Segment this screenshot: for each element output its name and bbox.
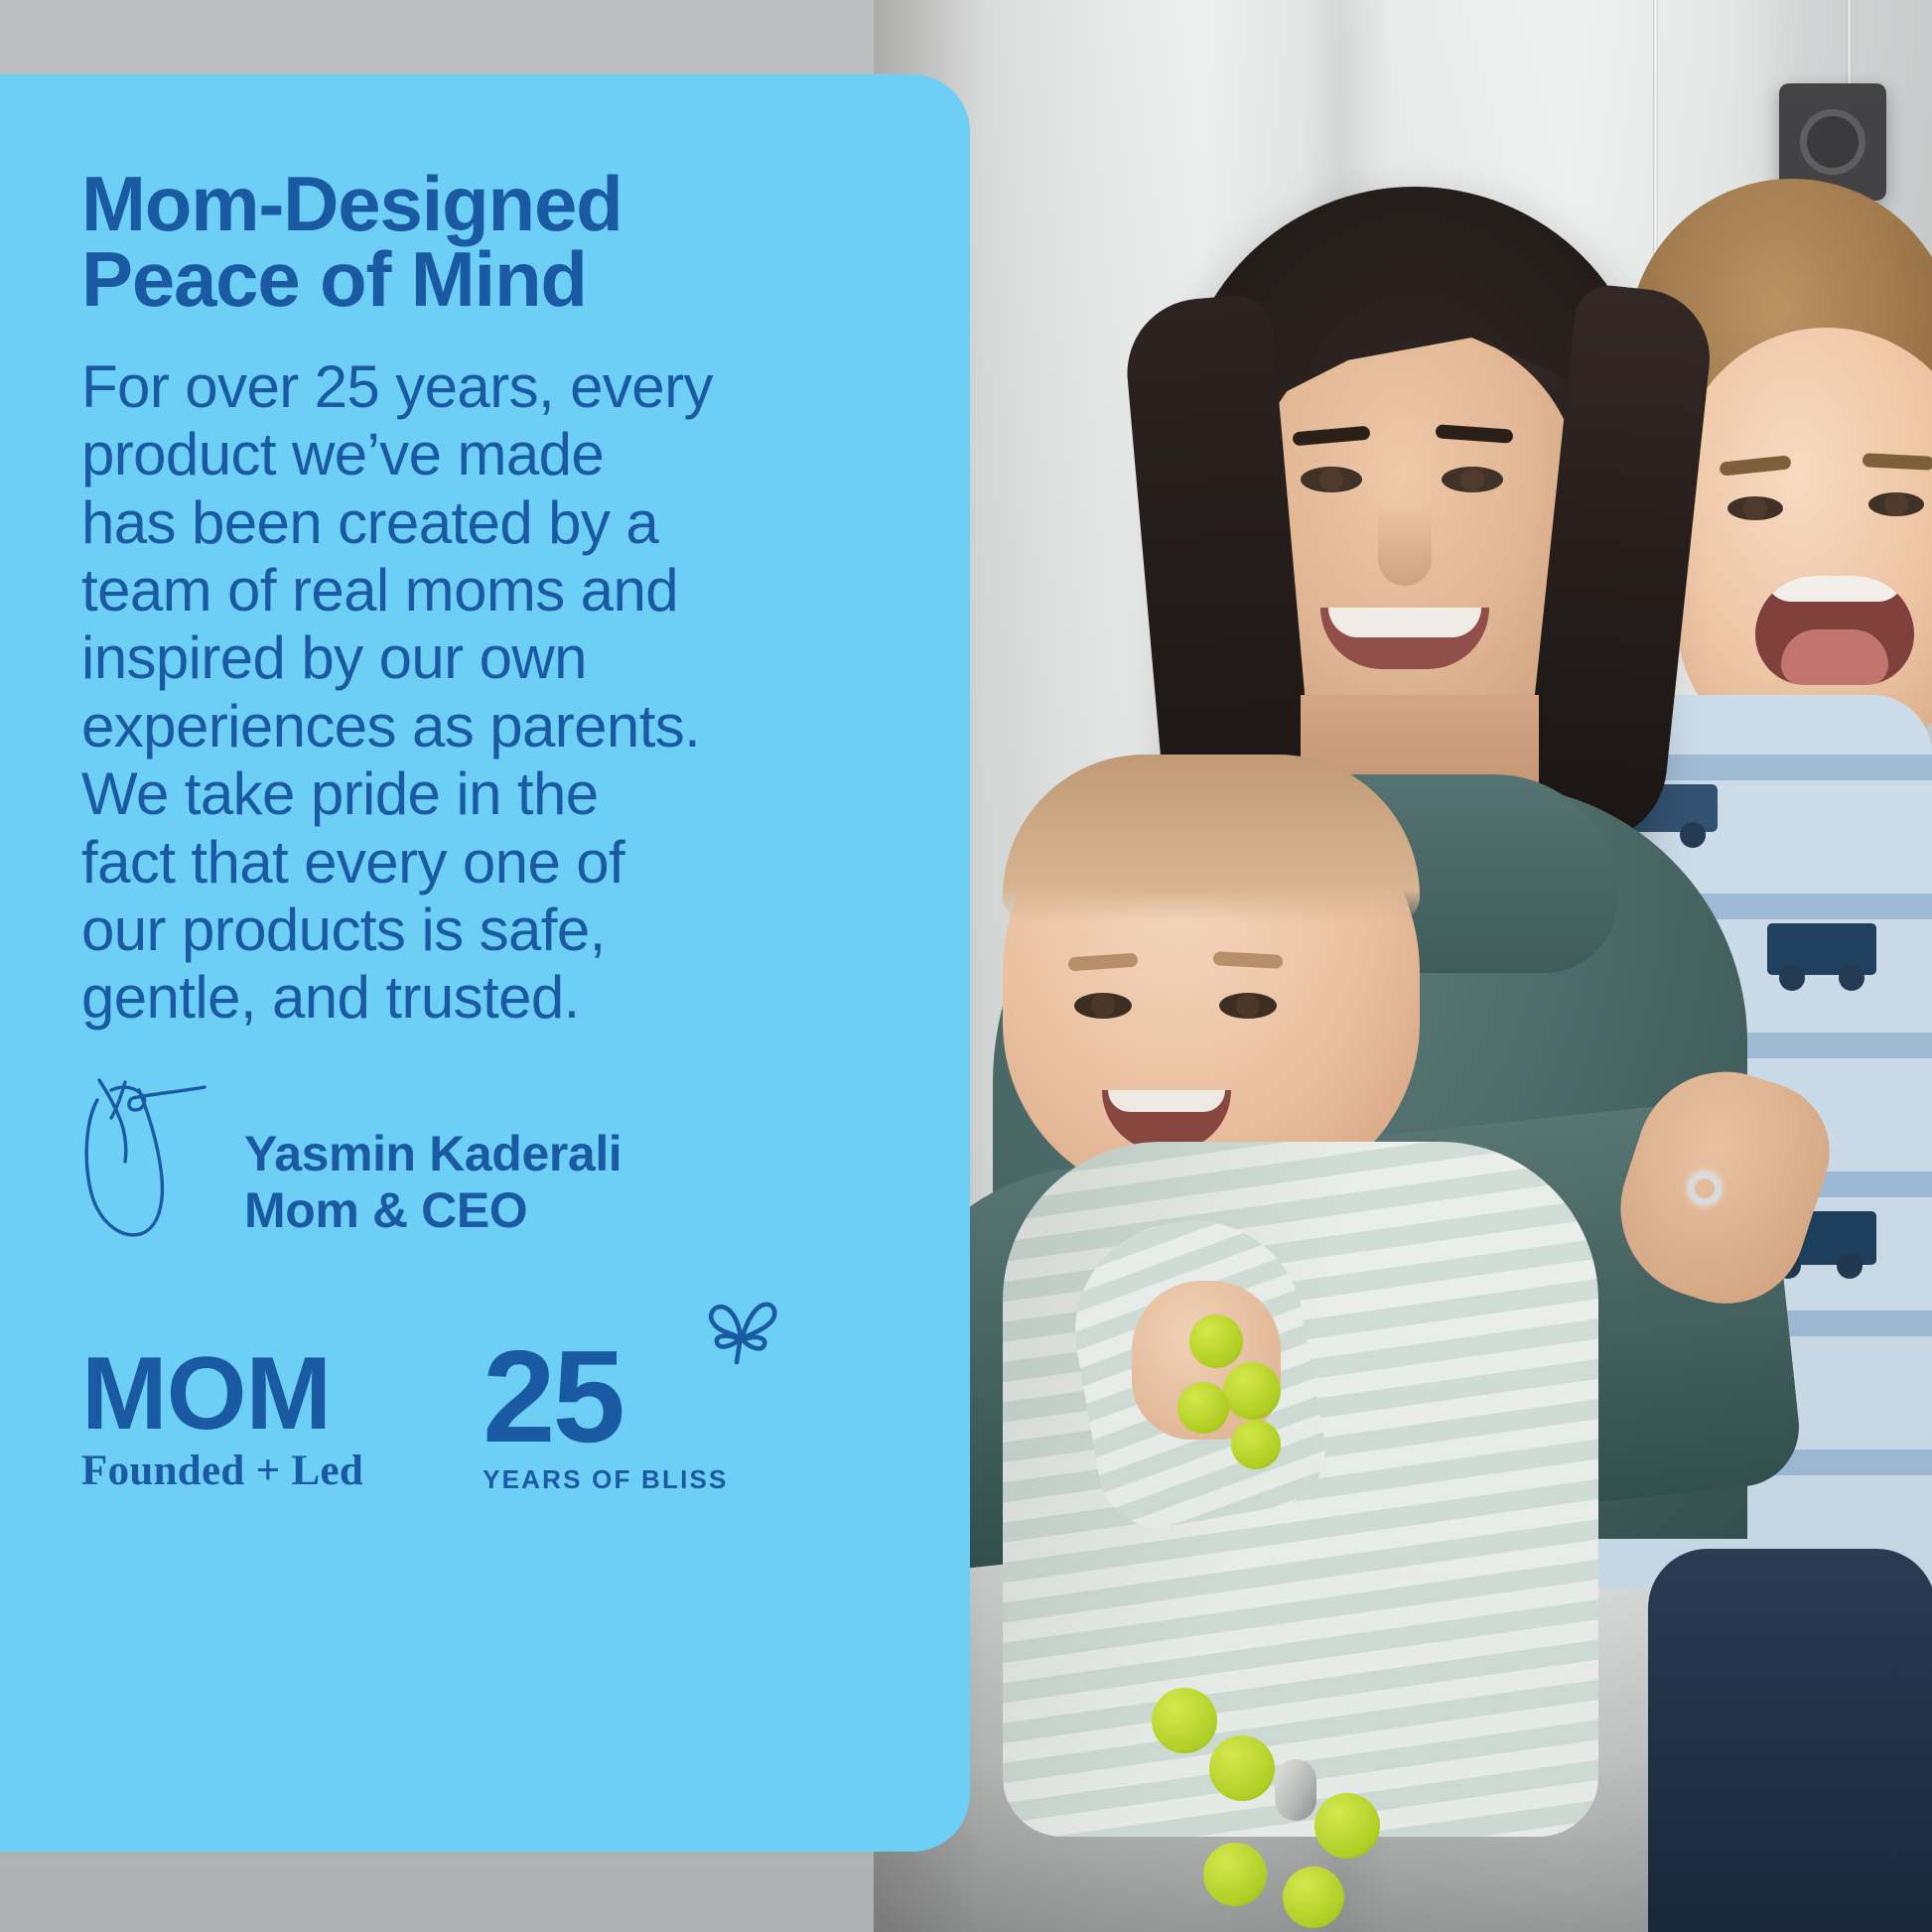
anniversary-caption: YEARS OF BLISS <box>483 1464 729 1495</box>
toddler-mouth <box>1755 576 1914 685</box>
mom-tagline: Founded + Led <box>81 1447 363 1495</box>
anniversary-badge: 25 YEARS OF BLISS <box>483 1340 729 1496</box>
yasmin-kaderali-signature-icon <box>81 1066 230 1255</box>
toddler-eye-right <box>1868 492 1924 516</box>
anniversary-number: 25 <box>483 1340 729 1453</box>
baby-eye-left <box>1074 993 1132 1019</box>
wedding-ring <box>1688 1172 1722 1205</box>
testimonial-card: Mom-Designed Peace of Mind For over 25 y… <box>0 74 970 1852</box>
toddler-face <box>1678 328 1932 755</box>
toddler-pants <box>1648 1549 1932 1932</box>
body-paragraph: For over 25 years, every product we’ve m… <box>81 353 776 1033</box>
butterfly-icon <box>697 1293 780 1376</box>
toddler-teeth <box>1765 576 1904 602</box>
mom-founded-led-logo: MOM Founded + Led <box>81 1348 363 1496</box>
baby-eye-right <box>1219 993 1277 1019</box>
page-title: Mom-Designed Peace of Mind <box>81 166 970 318</box>
baby-hair <box>1003 755 1420 923</box>
toddler-eye-left <box>1727 496 1783 520</box>
mother-teeth <box>1328 608 1481 637</box>
mother-nose <box>1378 506 1432 586</box>
mother-eye-right <box>1442 467 1503 492</box>
brand-logo-row: MOM Founded + Led 25 YEARS OF BLISS <box>81 1340 970 1496</box>
mother-eye-left <box>1301 467 1362 492</box>
signature-block: Yasmin Kaderali Mom & CEO <box>81 1066 970 1255</box>
mom-wordmark: MOM <box>81 1348 363 1442</box>
toddler-tongue <box>1781 629 1888 685</box>
signature-attribution: Yasmin Kaderali Mom & CEO <box>244 1126 621 1239</box>
